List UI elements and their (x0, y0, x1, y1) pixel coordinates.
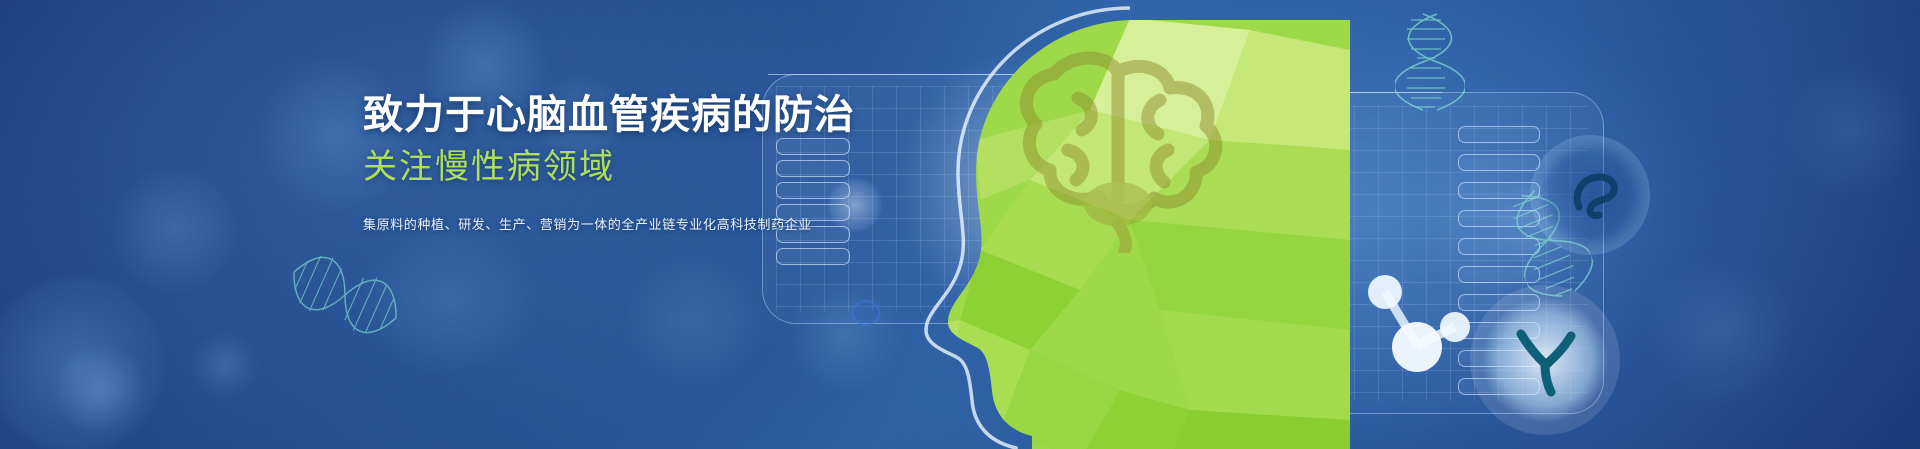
bokeh-circle (0, 250, 190, 449)
headline-suffix: 的防治 (732, 93, 855, 137)
bokeh-circle (1620, 230, 1820, 430)
bokeh-circle (1760, 40, 1920, 220)
hero-text-block: 致力于心脑血管疾病的防治 关注慢性病领域 集原料的种植、研发、生产、营销为一体的… (363, 92, 1123, 233)
bokeh-circle (40, 330, 160, 449)
bokeh-circle (1480, 165, 1600, 285)
headline-highlight: 心脑血管疾病 (486, 93, 732, 137)
page-title: 致力于心脑血管疾病的防治 (363, 92, 1123, 139)
hero-banner: 致力于心脑血管疾病的防治 关注慢性病领域 集原料的种植、研发、生产、营销为一体的… (0, 0, 1920, 449)
headline-prefix: 致力于 (363, 93, 486, 137)
bokeh-circle (600, 230, 790, 410)
bokeh-circle (1390, 105, 1620, 335)
bokeh-circle (180, 320, 270, 410)
page-tagline: 集原料的种植、研发、生产、营销为一体的全产业链专业化高科技制药企业 (363, 214, 1123, 233)
page-subtitle: 关注慢性病领域 (363, 147, 1123, 188)
bokeh-circle (95, 150, 255, 310)
